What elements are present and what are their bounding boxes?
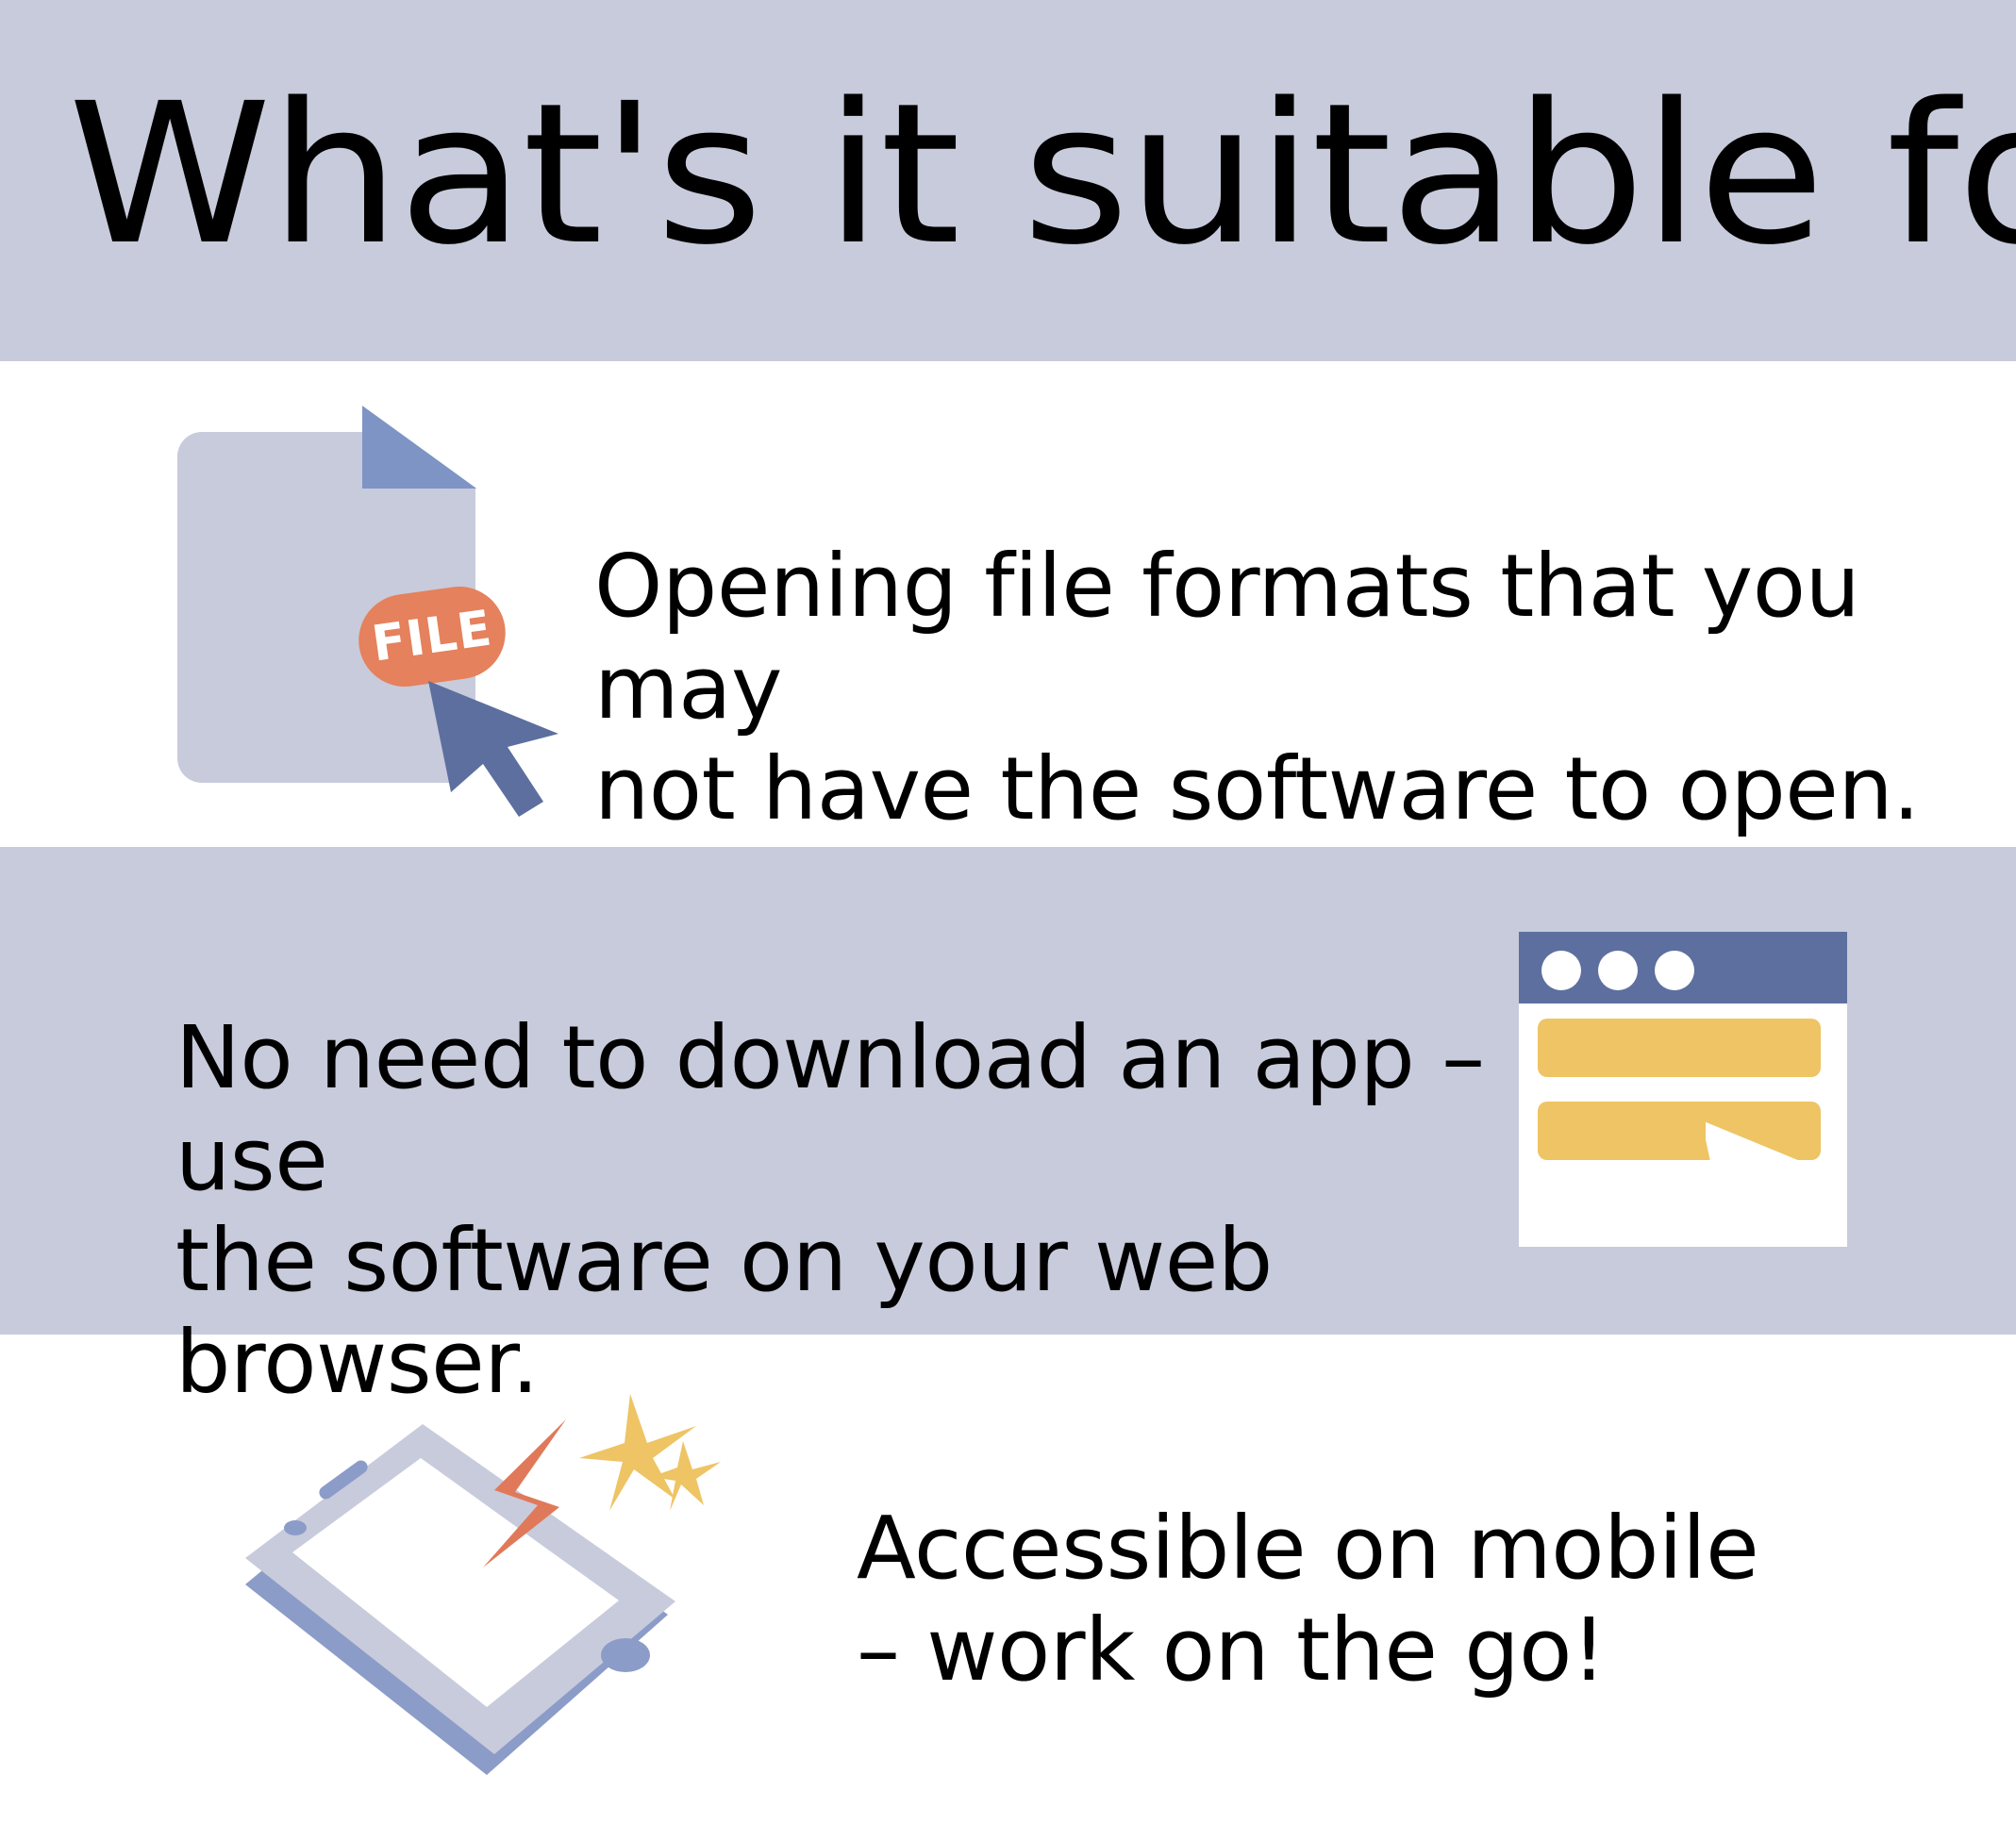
phone-camera-dot (284, 1520, 307, 1535)
file-document-cursor-icon: FILE (170, 406, 604, 811)
phone-bottom-slot (638, 1674, 675, 1698)
browser-titlebar (1519, 932, 1847, 1003)
sparkle-star-icon (579, 1394, 696, 1511)
phone-body-shape (245, 1424, 675, 1775)
phone-home-button (601, 1638, 650, 1672)
browser-content-bar (1538, 1019, 1821, 1077)
browser-dot-icon (1541, 951, 1581, 990)
infographic-page: What's it suitable for? FILE Opening fil… (0, 0, 2016, 1824)
browser-dot-icon (1655, 951, 1694, 990)
section-mobile-text: Accessible on mobile – work on the go! (857, 1498, 1894, 1700)
section-file-formats-text: Opening file formats that you may not ha… (594, 536, 1934, 840)
page-title: What's it suitable for? (68, 57, 2016, 292)
mobile-phone-lightning-sparkle-icon (234, 1368, 800, 1824)
cursor-arrow-white-icon (1706, 1103, 1894, 1254)
cursor-arrow-icon (417, 673, 625, 824)
section-web-browser-text: No need to download an app – use the sof… (175, 1007, 1496, 1414)
browser-dot-icon (1598, 951, 1638, 990)
browser-window-cursor-icon (1519, 932, 1858, 1252)
